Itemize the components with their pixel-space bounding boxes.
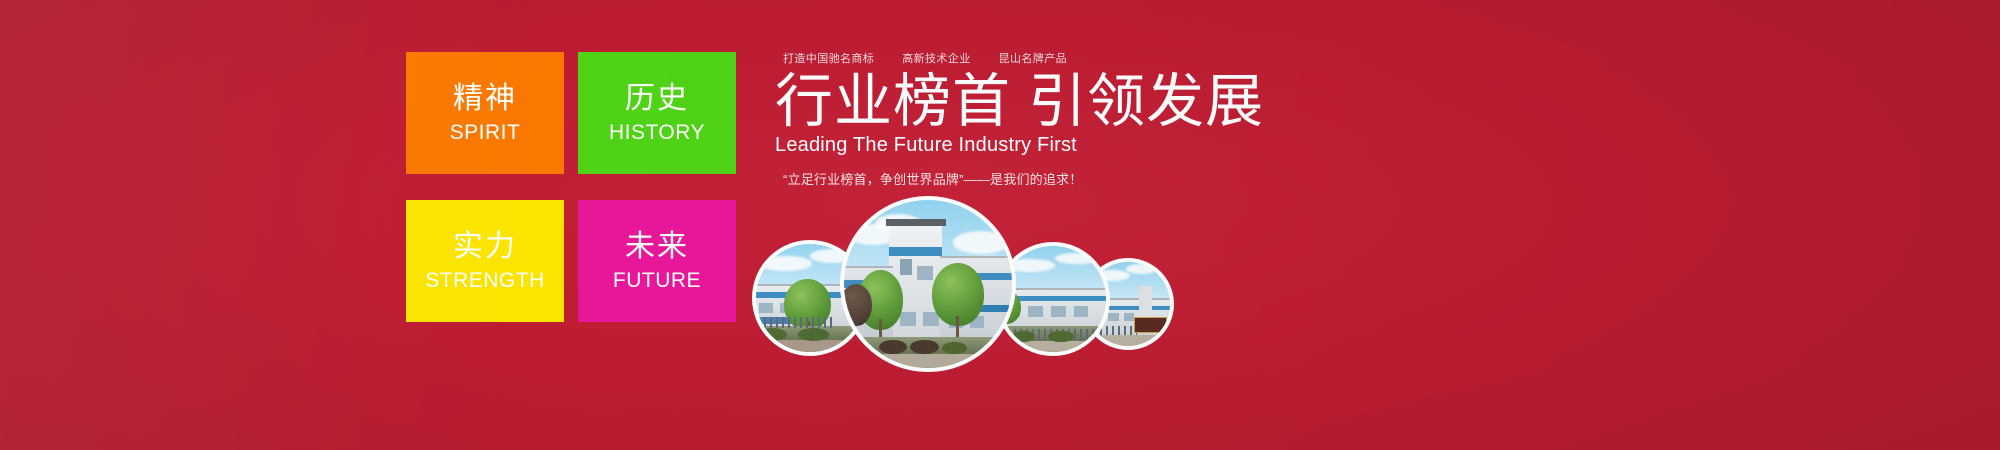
tile-strength-en-label: STRENGTH <box>425 270 545 291</box>
tile-history[interactable]: 历史 HISTORY <box>578 52 736 174</box>
subheadline-english: Leading The Future Industry First <box>775 134 1195 157</box>
credential-tagline-3: 昆山名牌产品 <box>999 50 1067 66</box>
value-tiles-group: 精神 SPIRIT 历史 HISTORY 实力 STRENGTH 未来 FUTU… <box>406 52 736 322</box>
company-banner: 精神 SPIRIT 历史 HISTORY 实力 STRENGTH 未来 FUTU… <box>0 0 2000 450</box>
credential-tagline-2: 高新技术企业 <box>902 50 970 66</box>
photo-content <box>840 196 1016 372</box>
banner-copy-block: 打造中国驰名商标 高新技术企业 昆山名牌产品 行业榜首 引领发展 Leading… <box>775 50 1195 188</box>
tile-spirit[interactable]: 精神 SPIRIT <box>406 52 564 174</box>
tile-strength[interactable]: 实力 STRENGTH <box>406 200 564 322</box>
tile-future[interactable]: 未来 FUTURE <box>578 200 736 322</box>
tile-strength-cn-label: 实力 <box>453 232 517 262</box>
tile-history-cn-label: 历史 <box>625 84 689 114</box>
tile-spirit-cn-label: 精神 <box>453 84 517 114</box>
credential-tagline-row: 打造中国驰名商标 高新技术企业 昆山名牌产品 <box>775 50 1195 68</box>
tile-spirit-en-label: SPIRIT <box>450 122 521 143</box>
tile-history-en-label: HISTORY <box>609 122 705 143</box>
tile-future-en-label: FUTURE <box>613 270 701 291</box>
credential-tagline-1: 打造中国驰名商标 <box>783 50 874 66</box>
tile-future-cn-label: 未来 <box>625 232 689 262</box>
factory-photo-collage <box>752 196 1172 356</box>
road <box>996 341 1110 356</box>
factory-photo-center <box>840 196 1016 372</box>
mission-quote: “立足行业榜首，争创世界品牌”——是我们的追求！ <box>775 169 1195 188</box>
headline: 行业榜首 引领发展 <box>775 72 1195 132</box>
